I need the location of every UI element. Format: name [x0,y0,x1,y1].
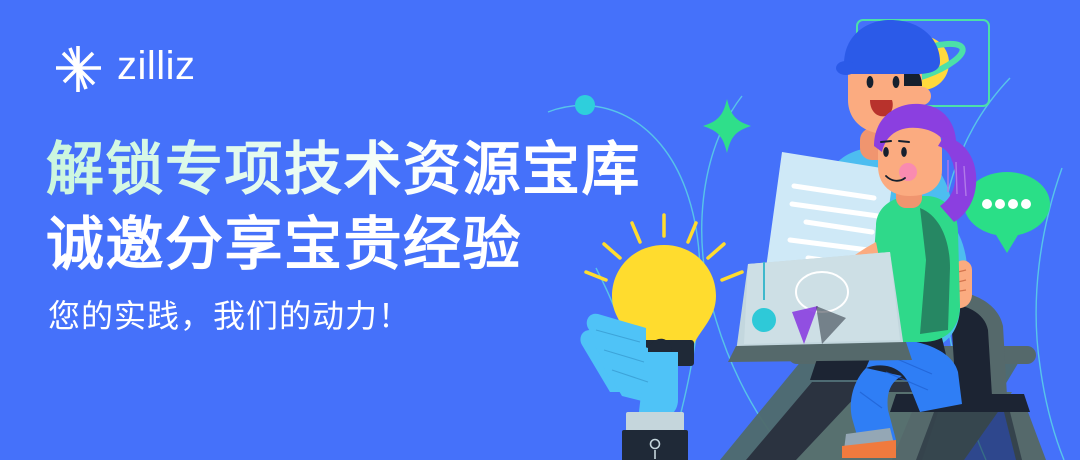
zilliz-starburst-icon [52,42,104,94]
woman-eye-left [883,147,889,157]
woman-cheek [899,163,917,181]
chair-leg-shadow [916,412,1022,460]
man-beret [844,20,940,74]
four-point-sparkle-icon [703,99,751,153]
laptop-icon [728,252,912,362]
man-eye-right [893,76,900,88]
woman-eye-right [901,147,907,157]
man-eye-left [867,76,874,88]
brand-wordmark: zilliz [117,46,196,90]
chat-dots-icon [964,172,1050,253]
brand-logo[interactable]: zilliz [52,40,196,96]
laptop-deco-dot [752,308,776,332]
people-collaborating-illustration [560,0,1080,460]
man-ear [913,87,931,105]
zilliz-promo-banner: zilliz 解锁专项技术资源宝库 诚邀分享宝贵经验 您的实践，我们的动力！ [0,0,1080,460]
wrist-collar [626,412,684,432]
beret-tab [836,61,856,75]
